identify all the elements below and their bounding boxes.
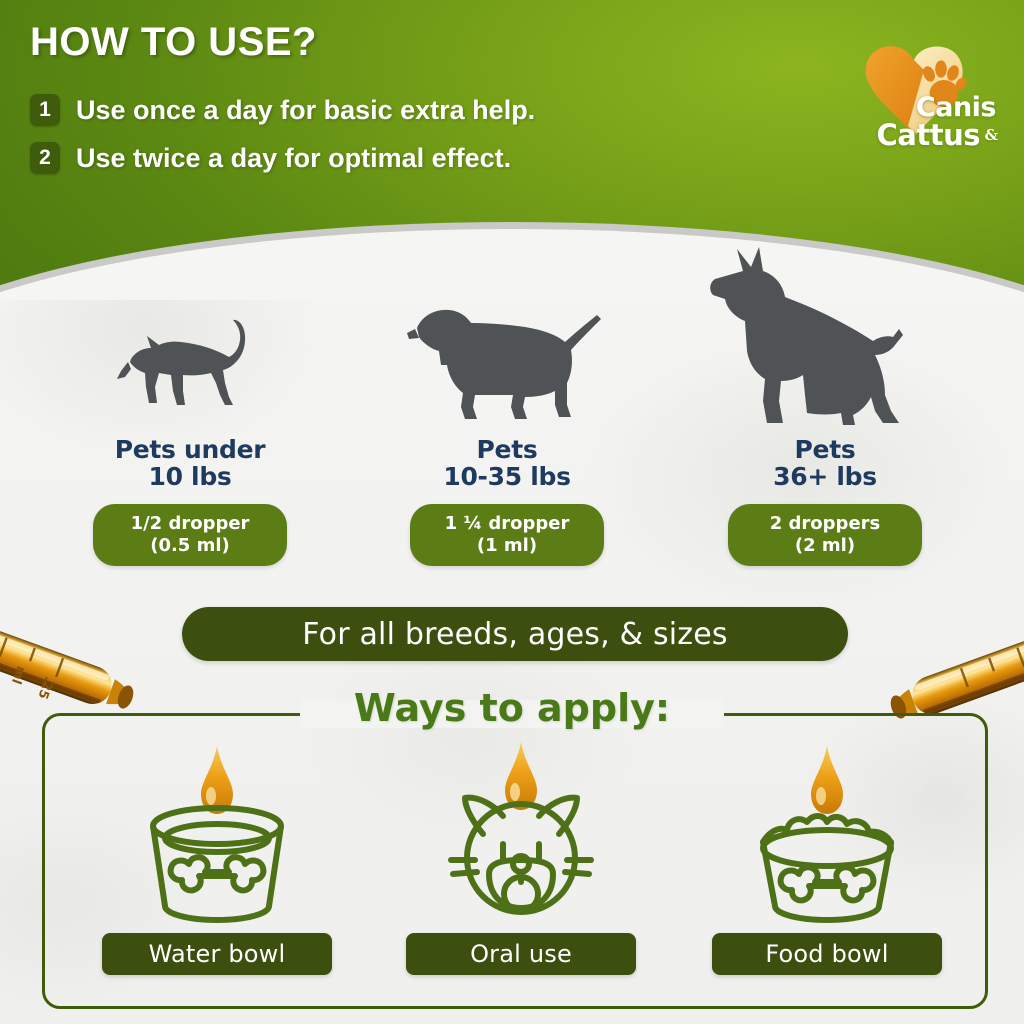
pet-size-label-medium-line1: Pets [377, 436, 637, 463]
medium-dog-silhouette-icon [405, 295, 610, 430]
water-bowl-icon [117, 738, 317, 928]
large-dog-silhouette-wrap [695, 255, 955, 430]
apply-label-food-bowl: Food bowl [712, 933, 942, 975]
pet-size-label-large-line1: Pets [695, 436, 955, 463]
apply-method-water-bowl: Water bowl [102, 738, 332, 975]
step-text-1: Use once a day for basic extra help. [76, 95, 535, 126]
pet-size-label-medium: Pets 10-35 lbs [377, 436, 637, 490]
step-number-badge-2: 2 [30, 142, 60, 174]
medium-dog-silhouette-wrap [377, 255, 637, 430]
water-bowl-icon-wrap [102, 738, 332, 933]
dose-volume-large: (2 ml) [732, 535, 918, 557]
food-bowl-icon [727, 738, 927, 928]
pet-size-label-small: Pets under 10 lbs [60, 436, 320, 490]
pet-size-label-large-line2: 36+ lbs [695, 463, 955, 490]
dose-pill-large: 2 droppers (2 ml) [728, 504, 922, 566]
step-number-badge-1: 1 [30, 94, 60, 126]
instruction-step-1: 1 Use once a day for basic extra help. [30, 94, 535, 126]
cat-face-icon-wrap [406, 738, 636, 933]
pet-size-label-medium-line2: 10-35 lbs [377, 463, 637, 490]
heart-paw-logo-icon [852, 30, 1002, 170]
cat-silhouette-wrap [60, 255, 320, 430]
dose-amount-small: 1/2 dropper [97, 513, 283, 535]
apply-label-water-bowl: Water bowl [102, 933, 332, 975]
all-breeds-banner: For all breeds, ages, & sizes [182, 607, 848, 661]
dose-volume-small: (0.5 ml) [97, 535, 283, 557]
ways-to-apply-title: Ways to apply: [0, 686, 1024, 730]
cat-silhouette-icon [103, 305, 278, 430]
dose-amount-medium: 1 ¼ dropper [414, 513, 600, 535]
dose-pill-small: 1/2 dropper (0.5 ml) [93, 504, 287, 566]
pet-size-label-small-line2: 10 lbs [60, 463, 320, 490]
pet-size-label-large: Pets 36+ lbs [695, 436, 955, 490]
apply-label-oral-use: Oral use [406, 933, 636, 975]
dose-volume-medium: (1 ml) [414, 535, 600, 557]
apply-method-food-bowl: Food bowl [712, 738, 942, 975]
page-title: HOW TO USE? [30, 20, 317, 65]
step-text-2: Use twice a day for optimal effect. [76, 143, 511, 174]
amber-drop-icon [811, 746, 843, 814]
dose-amount-large: 2 droppers [732, 513, 918, 535]
food-bowl-icon-wrap [712, 738, 942, 933]
dose-pill-medium: 1 ¼ dropper (1 ml) [410, 504, 604, 566]
apply-method-oral-use: Oral use [406, 738, 636, 975]
dosage-column-small: Pets under 10 lbs 1/2 dropper (0.5 ml) [60, 255, 320, 566]
brand-logo: Canis Cattus & [852, 30, 1002, 170]
pet-size-label-small-line1: Pets under [60, 436, 320, 463]
amber-drop-icon [201, 746, 233, 814]
dosage-column-medium: Pets 10-35 lbs 1 ¼ dropper (1 ml) [377, 255, 637, 566]
cat-face-icon [421, 738, 621, 928]
amber-drop-icon [505, 742, 537, 810]
dosage-column-large: Pets 36+ lbs 2 droppers (2 ml) [695, 255, 955, 566]
instruction-step-2: 2 Use twice a day for optimal effect. [30, 142, 511, 174]
large-dog-silhouette-icon [703, 245, 948, 430]
infographic-root: HOW TO USE? 1 Use once a day for basic e… [0, 0, 1024, 1024]
